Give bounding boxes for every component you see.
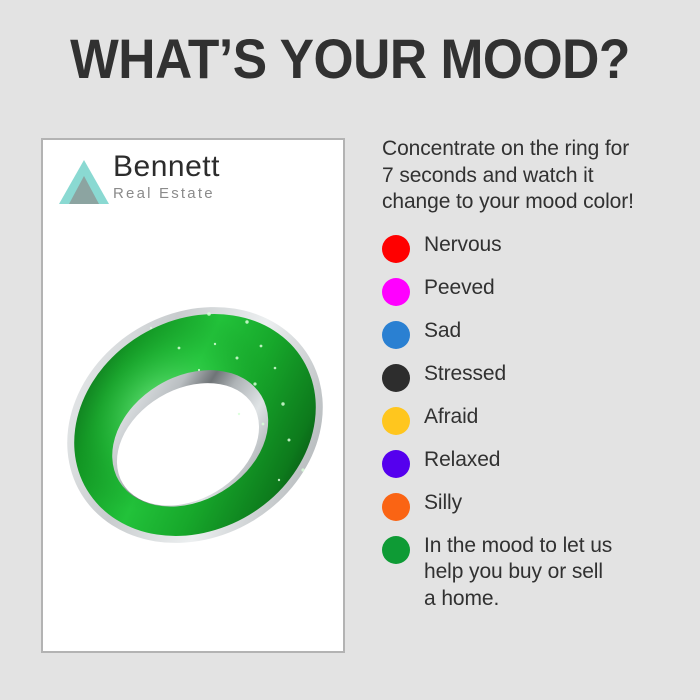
ring-photo-card: Bennett Real Estate bbox=[41, 138, 345, 653]
mood-color-dot bbox=[382, 536, 410, 564]
page-title: WHAT’S YOUR MOOD? bbox=[28, 28, 672, 90]
mood-color-dot bbox=[382, 450, 410, 478]
mood-ring-photo bbox=[51, 218, 339, 633]
instruction-text: Concentrate on the ring for 7 seconds an… bbox=[382, 136, 682, 216]
mountain-triangles-icon bbox=[57, 154, 111, 208]
mood-color-dot bbox=[382, 235, 410, 263]
mood-color-dot bbox=[382, 364, 410, 392]
list-item: Stressed bbox=[382, 361, 682, 392]
list-item: In the mood to let us help you buy or se… bbox=[382, 533, 682, 613]
list-item: Peeved bbox=[382, 275, 682, 306]
brand-name: Bennett bbox=[113, 150, 220, 184]
mood-label: Silly bbox=[424, 490, 462, 517]
mood-label: Sad bbox=[424, 318, 461, 345]
mood-label: Nervous bbox=[424, 232, 502, 259]
mood-color-dot bbox=[382, 278, 410, 306]
mood-legend-list: Nervous Peeved Sad Stressed Afraid Relax… bbox=[382, 232, 682, 613]
mood-label: Relaxed bbox=[424, 447, 500, 474]
brand-logo-text: Bennett Real Estate bbox=[113, 150, 220, 203]
mood-ring-illustration bbox=[51, 218, 339, 633]
list-item: Relaxed bbox=[382, 447, 682, 478]
mood-label: Peeved bbox=[424, 275, 495, 302]
mood-color-dot bbox=[382, 493, 410, 521]
mood-color-dot bbox=[382, 321, 410, 349]
list-item: Nervous bbox=[382, 232, 682, 263]
list-item: Sad bbox=[382, 318, 682, 349]
list-item: Silly bbox=[382, 490, 682, 521]
brand-logo: Bennett Real Estate bbox=[57, 150, 277, 212]
mood-label: Stressed bbox=[424, 361, 506, 388]
mood-info-column: Concentrate on the ring for 7 seconds an… bbox=[382, 136, 682, 624]
list-item: Afraid bbox=[382, 404, 682, 435]
mood-color-dot bbox=[382, 407, 410, 435]
mood-label: In the mood to let us help you buy or se… bbox=[424, 533, 612, 613]
brand-tagline: Real Estate bbox=[113, 185, 220, 203]
mood-label: Afraid bbox=[424, 404, 478, 431]
